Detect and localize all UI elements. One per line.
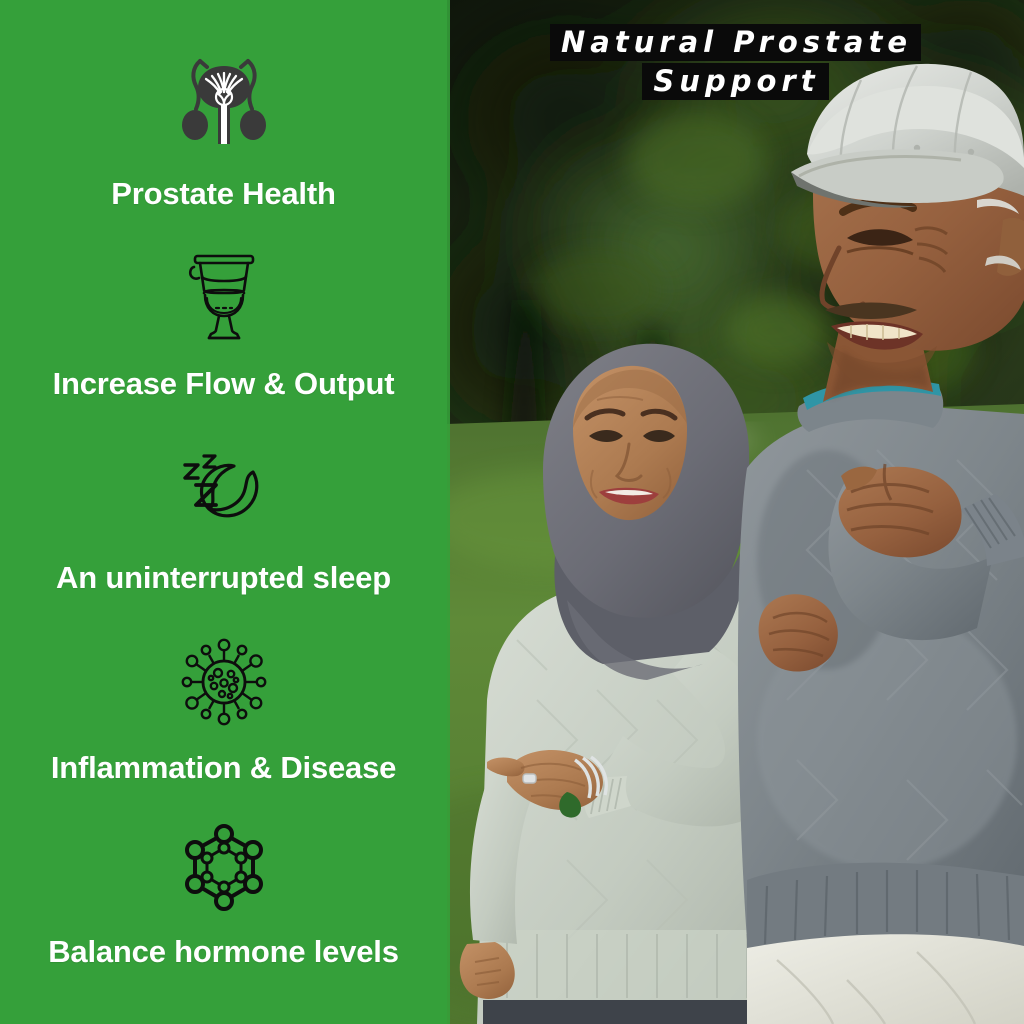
headline-line-2: Support [447,63,1024,100]
benefit-item-uninterrupted-sleep[interactable]: An uninterrupted sleep [0,452,447,596]
molecule-hexagon-icon [179,824,269,912]
prostate-anatomy-icon [172,52,276,152]
lifestyle-photo: Natural Prostate Support [447,0,1024,1024]
benefit-label-inflammation-disease: Inflammation & Disease [51,750,396,786]
virus-icon [178,636,270,728]
benefit-item-prostate-health[interactable]: Prostate Health [0,52,447,212]
benefit-item-balance-hormones[interactable]: Balance hormone levels [0,824,447,970]
benefit-label-uninterrupted-sleep: An uninterrupted sleep [56,560,391,596]
benefits-panel: Prostate Health [0,0,447,1024]
benefit-item-inflammation-disease[interactable]: Inflammation & Disease [0,636,447,786]
toilet-icon [183,250,265,342]
benefit-label-increase-flow: Increase Flow & Output [53,366,395,402]
headline: Natural Prostate Support [447,24,1024,100]
benefit-label-prostate-health: Prostate Health [111,176,335,212]
prostate-support-poster: Prostate Health [0,0,1024,1024]
benefit-item-increase-flow[interactable]: Increase Flow & Output [0,250,447,402]
sleeping-moon-zzz-icon [175,452,273,536]
benefit-label-balance-hormones: Balance hormone levels [48,934,399,970]
headline-line-1: Natural Prostate [447,24,1024,61]
